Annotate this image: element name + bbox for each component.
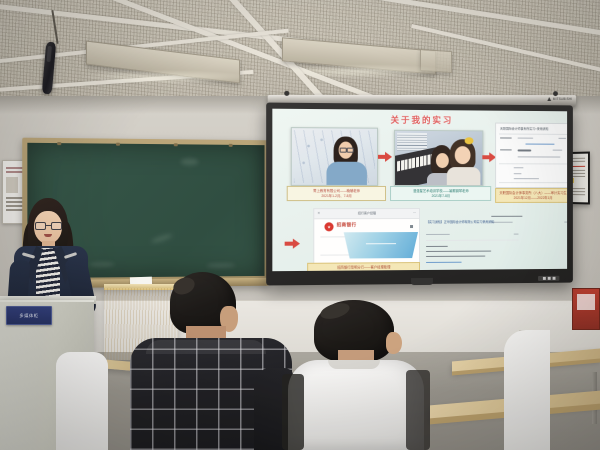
accounting-internship-caption: 天职国际会计师事务所（八大）——审计实习生 2021年12月——2022年1月 xyxy=(495,188,567,203)
more-icon: ⋯ xyxy=(413,211,416,215)
caption-date: 2022年6-8月 xyxy=(310,270,417,272)
flow-arrow-2 xyxy=(482,152,496,162)
brand-label: MITSUBISHI xyxy=(553,97,572,101)
email-notice-body: 【实习通知】正华国际会计师有限公司实习录用通知 xyxy=(426,220,519,271)
caption-date: 2021年7-8月 xyxy=(393,194,488,199)
classroom-photo: MITSUBISHI 关于我的实习 xyxy=(0,0,600,450)
caption-text: 天职国际会计师事务所（八大）——审计实习生 xyxy=(498,191,567,196)
light-glow xyxy=(80,70,250,84)
job-offer-screenshot: 天职国际会计师事务所实习>录用通知 xyxy=(495,123,567,189)
student-partial-left xyxy=(56,352,108,450)
screen-control-buttons[interactable] xyxy=(538,276,559,281)
bank-name-label: 招商银行 xyxy=(337,222,357,228)
flow-arrow-3 xyxy=(285,239,300,249)
caption-date: 2021年1-2月、7-8月 xyxy=(290,194,383,199)
glasses-icon xyxy=(35,222,61,228)
caption-date: 2021年12月——2022年1月 xyxy=(498,196,567,201)
doc-heading: 天职国际会计师事务所实习>录用通知 xyxy=(500,127,548,131)
screen-pen-tray xyxy=(411,278,433,285)
bank-logo-icon: ★ xyxy=(324,222,333,231)
piano-lesson-photo xyxy=(394,130,483,186)
bank-internship-caption: 招商银行昆明分行——客户经理助理 2022年6-8月 xyxy=(307,262,420,271)
photo-caption-1: 菁上教育有限公司——晚辅老师 2021年1-2月、7-8月 xyxy=(287,186,386,201)
projection-screen[interactable]: 关于我的实习 xyxy=(266,103,573,286)
light-glow xyxy=(278,64,448,78)
screen-display-area[interactable]: 关于我的实习 xyxy=(272,109,567,272)
email-subject: 【实习通知】正华国际会计师有限公司实习录用通知 xyxy=(426,220,494,224)
photo-caption-2: 漫漫星艺术培训学校——暑期钢琴老师 2021年7-8月 xyxy=(390,186,491,201)
presentation-slide: 关于我的实习 xyxy=(272,109,567,272)
mitsubishi-logo-icon: MITSUBISHI xyxy=(547,97,572,101)
fire-equipment-box xyxy=(572,288,600,330)
app-title-bar: ✕ 招行客户经理 ⋯ xyxy=(314,209,419,219)
student-white-shirt xyxy=(286,300,428,450)
student-partial-right xyxy=(486,330,546,450)
student-white-tshirt xyxy=(288,360,424,450)
online-teaching-photo xyxy=(291,127,378,186)
flow-arrow-1 xyxy=(378,152,392,162)
app-header-label: 招行客户经理 xyxy=(358,211,376,215)
banner-graphic xyxy=(344,232,418,259)
close-icon: ✕ xyxy=(317,211,320,215)
multimedia-cabinet-sign: 多媒体柜 xyxy=(6,306,52,325)
cabinet-sign-text: 多媒体柜 xyxy=(19,313,38,319)
student-plaid-shirt xyxy=(128,272,296,450)
